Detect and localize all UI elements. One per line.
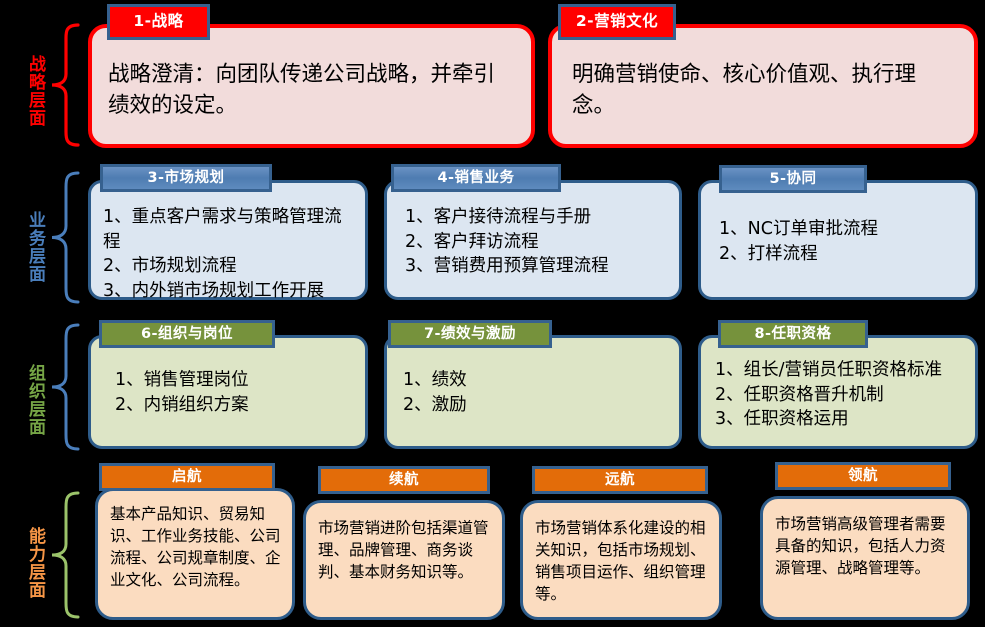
card-capability-2[interactable]: 市场营销进阶包括渠道管理、品牌管理、商务谈判、基本财务知识等。 <box>303 500 505 620</box>
layer-label-organization: 组织层面 <box>8 345 44 455</box>
diagram-canvas: 战略层面 战略澄清：向团队传递公司战略，并牵引绩效的设定。 1-战略 明确营销使… <box>0 0 985 627</box>
card-organization-7-body: 1、绩效 2、激励 <box>387 356 679 446</box>
card-organization-6-title[interactable]: 6-组织与岗位 <box>99 320 275 348</box>
card-business-5-title[interactable]: 5-协同 <box>719 165 867 193</box>
card-capability-4[interactable]: 市场营销高级管理者需要具备的知识，包括人力资源管理、战略管理等。 <box>760 496 970 620</box>
card-organization-6-body: 1、销售管理岗位 2、内销组织方案 <box>91 356 365 446</box>
card-capability-2-title[interactable]: 续航 <box>318 466 490 494</box>
brace-organization <box>48 322 80 452</box>
card-business-5[interactable]: 1、NC订单审批流程 2、打样流程 <box>698 180 978 300</box>
card-business-3-title[interactable]: 3-市场规划 <box>100 164 272 192</box>
brace-strategy <box>48 22 80 148</box>
card-strategy-2[interactable]: 明确营销使命、核心价值观、执行理念。 <box>548 24 978 148</box>
card-capability-1-body: 基本产品知识、贸易知识、工作业务技能、公司流程、公司规章制度、企业文化、公司流程… <box>98 491 292 617</box>
brace-business <box>48 170 80 305</box>
card-capability-2-body: 市场营销进阶包括渠道管理、品牌管理、商务谈判、基本财务知识等。 <box>306 503 502 617</box>
card-strategy-1-title[interactable]: 1-战略 <box>107 4 210 40</box>
card-business-4-title[interactable]: 4-销售业务 <box>391 164 561 192</box>
card-organization-7-title[interactable]: 7-绩效与激励 <box>388 320 552 348</box>
card-organization-8-body: 1、组长/营销员任职资格标准 2、任职资格晋升机制 3、任职资格运用 <box>701 348 975 446</box>
card-organization-8-title[interactable]: 8-任职资格 <box>718 320 868 348</box>
layer-label-capability: 能力层面 <box>8 508 44 618</box>
card-strategy-2-body: 明确营销使命、核心价值观、执行理念。 <box>552 46 974 144</box>
card-capability-4-title[interactable]: 领航 <box>775 462 951 490</box>
card-business-3-body: 1、重点客户需求与策略管理流程 2、市场规划流程 3、内外销市场规划工作开展 <box>91 193 365 297</box>
card-capability-3-title[interactable]: 远航 <box>532 466 708 494</box>
card-strategy-2-title[interactable]: 2-营销文化 <box>558 4 676 40</box>
card-business-5-body: 1、NC订单审批流程 2、打样流程 <box>701 205 975 297</box>
card-capability-3[interactable]: 市场营销体系化建设的相关知识，包括市场规划、销售项目运作、组织管理等。 <box>520 500 722 620</box>
card-capability-1-title[interactable]: 启航 <box>99 463 275 491</box>
card-capability-1[interactable]: 基本产品知识、贸易知识、工作业务技能、公司流程、公司规章制度、企业文化、公司流程… <box>95 488 295 620</box>
brace-capability <box>48 490 80 620</box>
card-strategy-1-body: 战略澄清：向团队传递公司战略，并牵引绩效的设定。 <box>92 46 531 144</box>
card-organization-7[interactable]: 1、绩效 2、激励 <box>384 335 682 449</box>
layer-label-strategy: 战略层面 <box>8 36 44 146</box>
card-capability-4-body: 市场营销高级管理者需要具备的知识，包括人力资源管理、战略管理等。 <box>763 499 967 617</box>
card-organization-8[interactable]: 1、组长/营销员任职资格标准 2、任职资格晋升机制 3、任职资格运用 <box>698 335 978 449</box>
card-strategy-1[interactable]: 战略澄清：向团队传递公司战略，并牵引绩效的设定。 <box>88 24 535 148</box>
card-business-4-body: 1、客户接待流程与手册 2、客户拜访流程 3、营销费用预算管理流程 <box>387 193 679 297</box>
card-business-4[interactable]: 1、客户接待流程与手册 2、客户拜访流程 3、营销费用预算管理流程 <box>384 180 682 300</box>
layer-label-business: 业务层面 <box>8 192 44 302</box>
card-business-3[interactable]: 1、重点客户需求与策略管理流程 2、市场规划流程 3、内外销市场规划工作开展 <box>88 180 368 300</box>
card-organization-6[interactable]: 1、销售管理岗位 2、内销组织方案 <box>88 335 368 449</box>
card-capability-3-body: 市场营销体系化建设的相关知识，包括市场规划、销售项目运作、组织管理等。 <box>523 503 719 617</box>
